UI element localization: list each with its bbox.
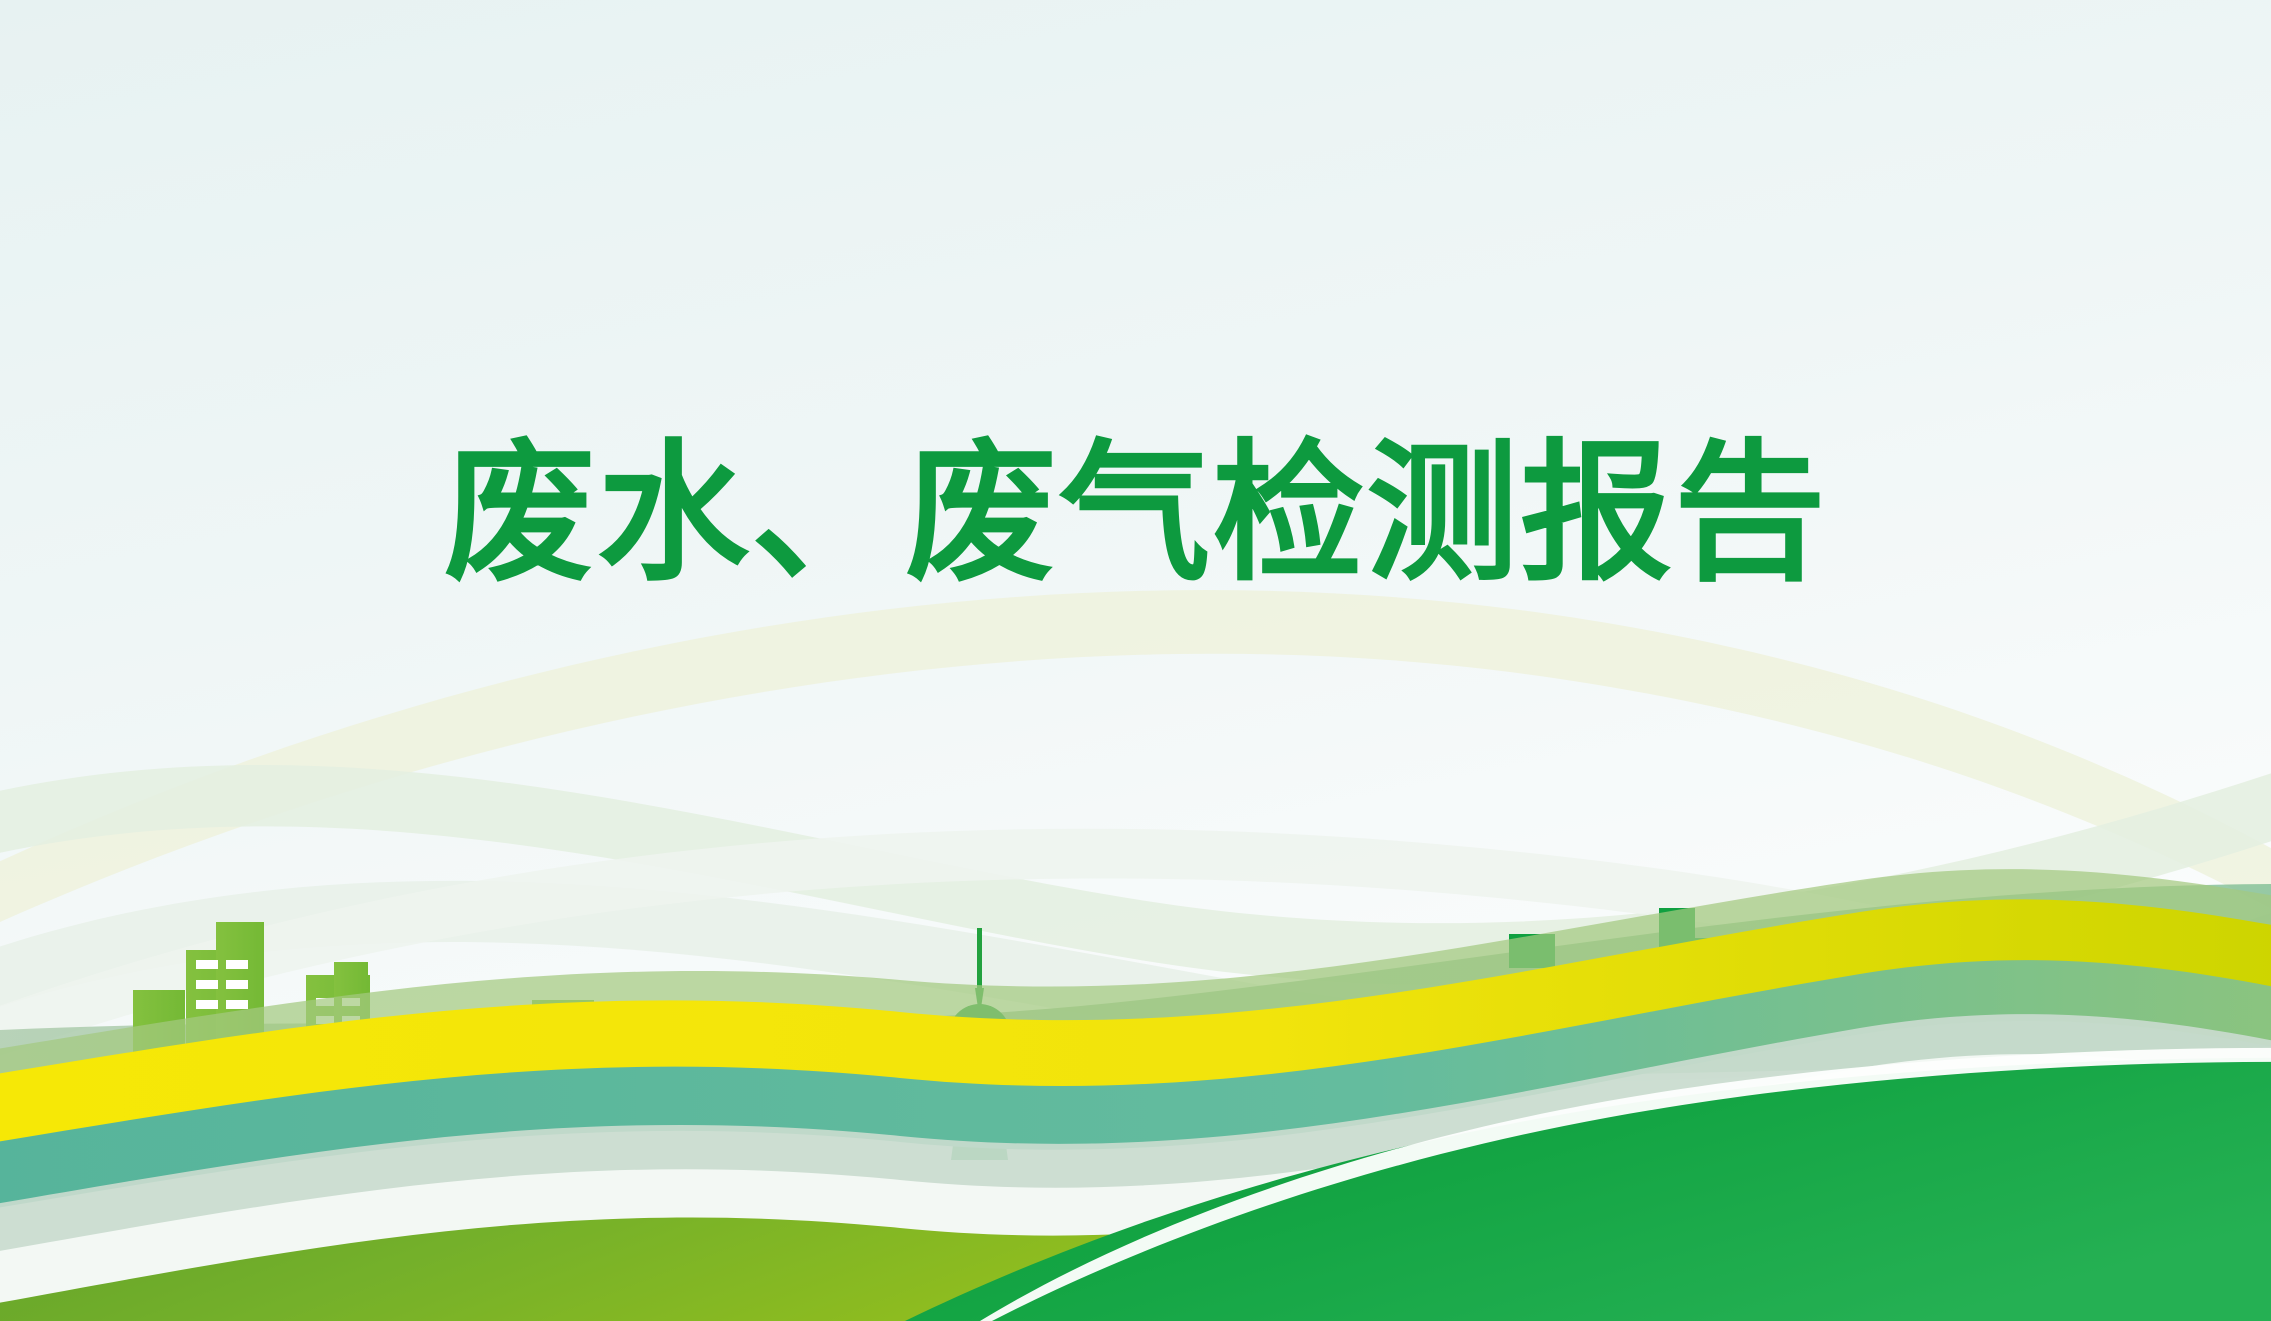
decorative-background-graphic xyxy=(0,0,2271,1321)
slide-canvas: 废水、废气检测报告 xyxy=(0,0,2271,1321)
